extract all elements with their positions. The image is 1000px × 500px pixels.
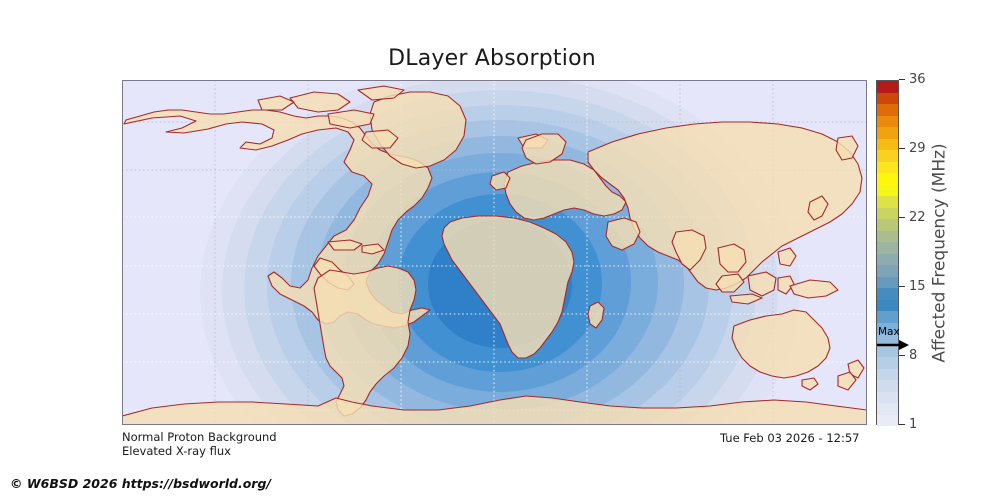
landmass-new-guinea: [790, 280, 838, 298]
colorbar-axis-label: Affected Frequency (MHz): [928, 80, 952, 425]
landmass-arctic-islands-2: [328, 110, 374, 128]
colorbar-band: [877, 196, 898, 208]
colorbar-band: [877, 300, 898, 312]
colorbar-tick-mark: [899, 424, 905, 425]
colorbar-band: [877, 311, 898, 323]
colorbar-tick-label: 1: [909, 416, 917, 433]
timestamp: Tue Feb 03 2026 - 12:57: [720, 431, 859, 445]
landmass-australia: [732, 310, 830, 378]
landmass-java: [730, 294, 762, 304]
landmass-south-america: [314, 266, 416, 416]
colorbar-band: [877, 357, 898, 369]
colorbar-tick-mark: [899, 148, 905, 149]
colorbar-band: [877, 116, 898, 128]
colorbar-tick-label: 29: [909, 140, 926, 157]
colorbar-band: [877, 173, 898, 185]
page-title: DLayer Absorption: [0, 46, 1000, 71]
landmass-africa: [442, 216, 574, 358]
colorbar-tick-mark: [899, 286, 905, 287]
colorbar-band: [877, 242, 898, 254]
colorbar-band: [877, 231, 898, 243]
colorbar-band: [877, 219, 898, 231]
colorbar-band: [877, 81, 898, 93]
colorbar-band: [877, 288, 898, 300]
continents: [122, 80, 867, 425]
colorbar-band: [877, 127, 898, 139]
colorbar-tick-mark: [899, 217, 905, 218]
dlayer-absorption-plot: DLayer Absorption: [0, 0, 1000, 500]
colorbar-band: [877, 208, 898, 220]
colorbar-band: [877, 162, 898, 174]
status-proton-background: Normal Proton Background: [122, 430, 277, 444]
max-arrow-icon: [877, 339, 909, 351]
landmass-kamchatka: [836, 136, 858, 160]
colorbar-band: [877, 93, 898, 105]
landmass-arctic-islands-1: [290, 92, 350, 112]
max-marker-label: Max: [878, 327, 900, 338]
colorbar-band: [877, 380, 898, 392]
landmass-madagascar: [588, 302, 604, 328]
page-title-text: DLayer Absorption: [388, 46, 596, 71]
colorbar-band: [877, 150, 898, 162]
colorbar-band: [877, 392, 898, 404]
status-xray-flux: Elevated X-ray flux: [122, 444, 231, 458]
colorbar-tick-label: 8: [909, 347, 917, 364]
world-map[interactable]: [122, 80, 867, 425]
credit-line: © W6BSD 2026 https://bsdworld.org/: [10, 476, 271, 491]
colorbar-tick-label: 15: [909, 278, 926, 295]
colorbar-band: [877, 265, 898, 277]
colorbar-band: [877, 104, 898, 116]
landmass-antarctica: [122, 396, 867, 425]
colorbar-band: [877, 254, 898, 266]
colorbar-band: [877, 415, 898, 427]
colorbar-band: [877, 139, 898, 151]
colorbar-band: [877, 369, 898, 381]
colorbar-tick-label: 36: [909, 71, 926, 88]
landmass-arabia: [606, 218, 640, 250]
landmass-borneo: [748, 272, 776, 296]
landmass-arctic-islands-3: [258, 96, 294, 110]
colorbar-band: [877, 277, 898, 289]
landmass-tasmania: [802, 378, 818, 390]
colorbar-tick-mark: [899, 79, 905, 80]
colorbar[interactable]: [876, 80, 899, 425]
landmass-philippines: [778, 248, 796, 266]
colorbar-band: [877, 185, 898, 197]
colorbar-axis-label-text: Affected Frequency (MHz): [930, 143, 950, 362]
colorbar-max-marker: Max: [876, 329, 910, 355]
colorbar-band: [877, 403, 898, 415]
colorbar-tick-label: 22: [909, 209, 926, 226]
